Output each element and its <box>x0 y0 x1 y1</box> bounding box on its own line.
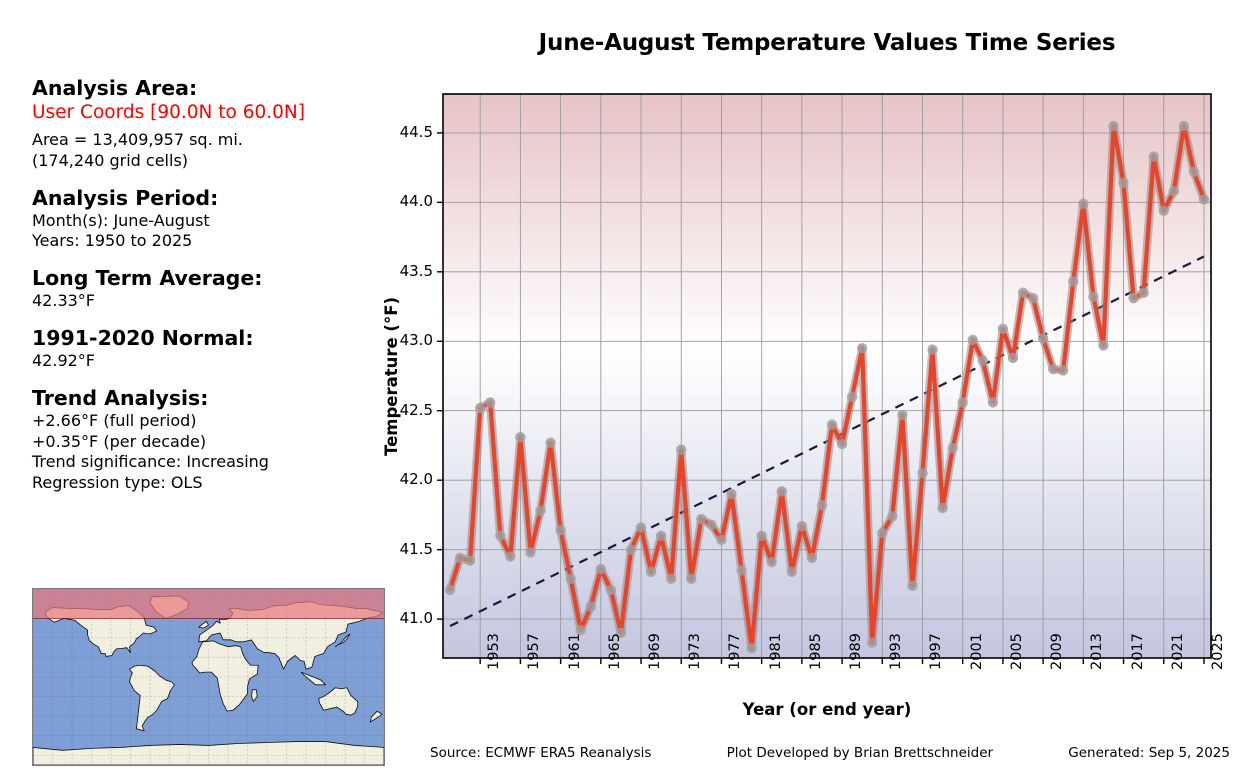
data-point-marker <box>666 574 676 584</box>
data-point-marker <box>1088 292 1098 302</box>
series-shadow <box>450 126 1204 648</box>
x-tick-label: 1981 <box>768 633 784 670</box>
x-tick-label: 1961 <box>567 633 583 670</box>
data-point-marker <box>606 585 616 595</box>
chart-title: June-August Temperature Values Time Seri… <box>443 30 1211 56</box>
data-point-marker <box>867 638 877 648</box>
data-point-marker <box>465 556 475 566</box>
data-point-marker <box>1179 121 1189 131</box>
x-tick-label: 1973 <box>687 633 703 670</box>
data-point-marker <box>958 397 968 407</box>
series-line <box>450 126 1204 648</box>
data-point-marker <box>736 565 746 575</box>
data-point-marker <box>877 528 887 538</box>
data-point-marker <box>1199 194 1209 204</box>
data-point-marker <box>937 503 947 513</box>
plot-frame <box>443 94 1211 658</box>
data-point-marker <box>1149 151 1159 161</box>
data-point-marker <box>555 525 565 535</box>
y-tick-label: 44.5 <box>377 123 433 141</box>
data-point-marker <box>887 511 897 521</box>
data-point-marker <box>1159 205 1169 215</box>
data-point-marker <box>998 324 1008 334</box>
timeseries-chart: June-August Temperature Values Time Seri… <box>0 0 1250 780</box>
x-tick-label: 2005 <box>1009 633 1025 670</box>
chart-footer: Source: ECMWF ERA5 Reanalysis Plot Devel… <box>430 745 1230 761</box>
data-point-marker <box>696 514 706 524</box>
data-point-marker <box>596 564 606 574</box>
y-axis-label: Temperature (°F) <box>382 296 401 455</box>
data-point-marker <box>827 419 837 429</box>
data-point-marker <box>767 557 777 567</box>
data-point-marker <box>1118 178 1128 188</box>
data-point-marker <box>525 547 535 557</box>
y-tick-label: 42.0 <box>377 470 433 488</box>
y-tick-label: 43.5 <box>377 262 433 280</box>
data-point-marker <box>1189 167 1199 177</box>
y-tick-label: 43.0 <box>377 331 433 349</box>
x-tick-label: 1989 <box>848 633 864 670</box>
x-tick-label: 1969 <box>647 633 663 670</box>
data-point-marker <box>1018 287 1028 297</box>
footer-developer: Plot Developed by Brian Brettschneider <box>727 745 993 761</box>
data-point-marker <box>686 574 696 584</box>
trend-line <box>450 257 1204 627</box>
footer-generated: Generated: Sep 5, 2025 <box>1068 745 1230 761</box>
data-point-marker <box>1128 293 1138 303</box>
x-tick-label: 1953 <box>486 633 502 670</box>
data-point-marker <box>1008 353 1018 363</box>
x-axis-label: Year (or end year) <box>443 700 1211 719</box>
data-point-marker <box>716 535 726 545</box>
data-point-marker <box>1028 293 1038 303</box>
y-tick-label: 42.5 <box>377 401 433 419</box>
data-point-marker <box>1068 276 1078 286</box>
data-point-marker <box>857 343 867 353</box>
data-point-marker <box>1048 364 1058 374</box>
x-tick-label: 2009 <box>1049 633 1065 670</box>
data-point-marker <box>1108 121 1118 131</box>
x-tick-label: 1957 <box>526 633 542 670</box>
data-point-marker <box>797 521 807 531</box>
data-point-marker <box>485 397 495 407</box>
data-point-marker <box>807 553 817 563</box>
x-tick-label: 2013 <box>1089 633 1105 670</box>
data-point-marker <box>475 403 485 413</box>
x-tick-label: 1985 <box>808 633 824 670</box>
x-tick-label: 1997 <box>928 633 944 670</box>
data-point-marker <box>947 443 957 453</box>
data-point-marker <box>1098 340 1108 350</box>
data-point-marker <box>988 397 998 407</box>
data-point-marker <box>817 500 827 510</box>
x-tick-label: 1977 <box>727 633 743 670</box>
data-point-marker <box>978 356 988 366</box>
data-point-marker <box>565 574 575 584</box>
x-tick-label: 2001 <box>969 633 985 670</box>
data-point-marker <box>515 432 525 442</box>
data-point-marker <box>1058 365 1068 375</box>
data-point-marker <box>535 506 545 516</box>
data-point-marker <box>646 567 656 577</box>
data-point-marker <box>787 567 797 577</box>
x-tick-label: 2017 <box>1130 633 1146 670</box>
data-point-marker <box>706 519 716 529</box>
data-point-marker <box>726 489 736 499</box>
data-point-marker <box>545 437 555 447</box>
data-point-marker <box>455 553 465 563</box>
data-point-marker <box>1138 287 1148 297</box>
footer-source: Source: ECMWF ERA5 Reanalysis <box>430 745 651 761</box>
data-point-marker <box>586 601 596 611</box>
data-point-marker <box>656 531 666 541</box>
data-point-marker <box>626 544 636 554</box>
x-tick-label: 1993 <box>888 633 904 670</box>
data-point-marker <box>756 531 766 541</box>
data-point-marker <box>495 531 505 541</box>
data-point-marker <box>505 551 515 561</box>
y-tick-label: 41.5 <box>377 540 433 558</box>
data-point-marker <box>1169 186 1179 196</box>
y-tick-label: 41.0 <box>377 609 433 627</box>
x-tick-label: 1965 <box>607 633 623 670</box>
data-point-marker <box>1038 333 1048 343</box>
data-point-marker <box>847 392 857 402</box>
data-point-marker <box>927 344 937 354</box>
data-point-marker <box>907 581 917 591</box>
data-point-marker <box>445 585 455 595</box>
data-point-marker <box>676 444 686 454</box>
data-point-marker <box>636 522 646 532</box>
data-point-marker <box>1078 199 1088 209</box>
y-tick-label: 44.0 <box>377 192 433 210</box>
plot-background <box>443 94 1211 658</box>
data-point-marker <box>917 468 927 478</box>
data-point-marker <box>897 410 907 420</box>
x-tick-label: 2025 <box>1210 633 1226 670</box>
page-root: Analysis Area: User Coords [90.0N to 60.… <box>0 0 1250 780</box>
data-point-marker <box>968 335 978 345</box>
data-point-marker <box>746 643 756 653</box>
data-point-marker <box>837 439 847 449</box>
data-point-marker <box>777 486 787 496</box>
x-tick-label: 2021 <box>1170 633 1186 670</box>
